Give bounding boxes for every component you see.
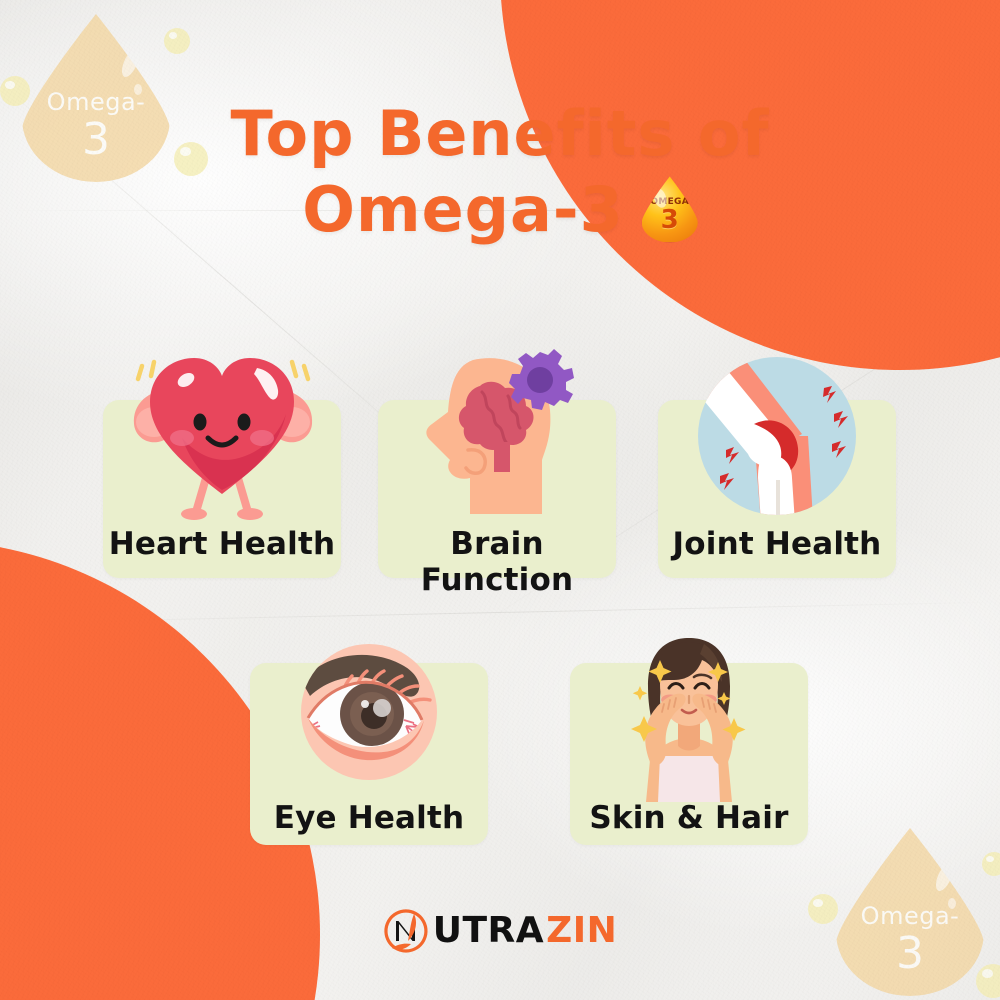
bubble-icon <box>976 964 1000 998</box>
flexing-heart-svg <box>120 330 325 520</box>
brand-logo[interactable]: UTRA ZIN <box>0 908 1000 954</box>
woman-sparkle-svg <box>604 630 774 802</box>
benefit-label-skin-hair: Skin & Hair <box>570 800 808 836</box>
nutrazin-leaf-n-icon <box>383 908 429 954</box>
benefit-label-joint-health: Joint Health <box>658 526 896 562</box>
benefit-label-eye-health: Eye Health <box>250 800 488 836</box>
orange-corner-fill-top-right <box>830 0 1000 36</box>
poster-title: Top Benefits of Omega-3 OMEGA 3 <box>0 96 1000 247</box>
eye-icon <box>250 640 488 790</box>
flexing-heart-icon <box>103 330 341 520</box>
eye-svg <box>294 640 444 790</box>
woman-face-sparkle-icon <box>570 630 808 802</box>
logo-text-accent: ZIN <box>546 913 617 949</box>
gold-omega3-droplet-icon: OMEGA 3 <box>642 176 698 242</box>
head-brain-gear-icon <box>378 348 616 520</box>
knee-joint-icon <box>658 352 896 520</box>
benefit-label-brain-function: Brain Function <box>378 526 616 598</box>
title-line-2-row: Omega-3 OMEGA 3 <box>0 172 1000 248</box>
knee-joint-svg <box>692 352 862 520</box>
bubble-icon <box>164 28 190 54</box>
droplet-shine-icon <box>134 84 142 95</box>
title-line-1: Top Benefits of <box>0 96 1000 172</box>
orange-corner-fill-bottom-left <box>0 700 60 1000</box>
nutrazin-mark-svg <box>383 908 429 954</box>
bubble-icon <box>982 852 1000 876</box>
logo-text-dark: UTRA <box>433 913 544 949</box>
benefit-label-heart-health: Heart Health <box>103 526 341 562</box>
droplet-shine-icon <box>118 47 142 80</box>
droplet-shine-icon <box>932 861 956 894</box>
title-line-2: Omega-3 <box>302 172 623 248</box>
gold-droplet-number: 3 <box>661 207 679 233</box>
infographic-poster: Omega- 3 Omega- 3 Top Benefits of Omega-… <box>0 0 1000 1000</box>
head-brain-gear-svg <box>410 348 585 520</box>
